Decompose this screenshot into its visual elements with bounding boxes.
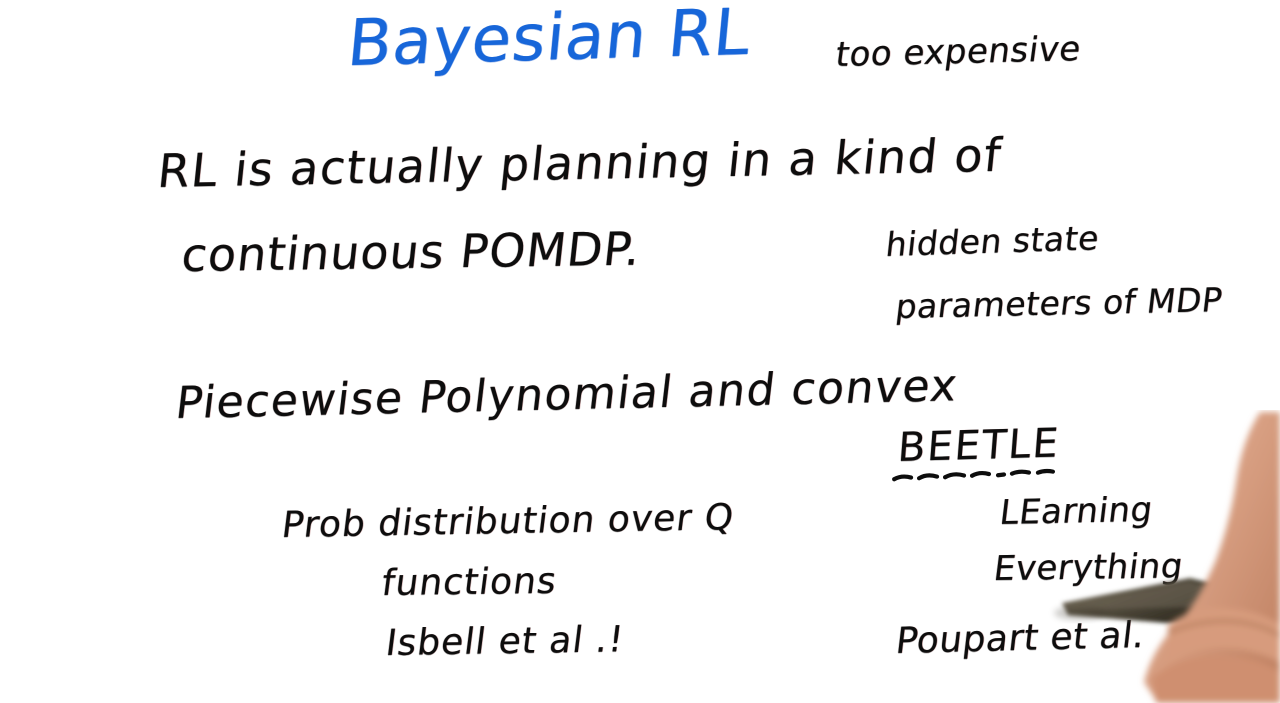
whiteboard-canvas: Bayesian RL too expensive RL is actually… bbox=[0, 0, 1280, 703]
note-prob-distribution-line-1: Prob distribution over Q bbox=[280, 500, 736, 544]
note-main-line-1: RL is actually planning in a kind of bbox=[156, 132, 1005, 194]
note-main-line-2: continuous POMDP. bbox=[179, 226, 643, 278]
note-beetle-title: BEETLE bbox=[896, 423, 1061, 468]
note-hidden-state-line-1: hidden state bbox=[884, 221, 1101, 261]
note-poupart-citation: Poupart et al. bbox=[894, 618, 1147, 660]
note-beetle-expansion-2: Everything bbox=[992, 549, 1185, 586]
note-piecewise-polynomial: Piecewise Polynomial and convex bbox=[173, 364, 960, 426]
note-too-expensive: too expensive bbox=[834, 32, 1083, 72]
note-beetle-expansion-1: LEarning bbox=[998, 493, 1155, 530]
note-prob-distribution-line-2: functions bbox=[380, 564, 559, 602]
note-isbell-citation: Isbell et al .! bbox=[384, 622, 626, 662]
note-hidden-state-line-2: parameters of MDP bbox=[894, 283, 1224, 323]
page-title: Bayesian RL bbox=[345, 1, 754, 76]
